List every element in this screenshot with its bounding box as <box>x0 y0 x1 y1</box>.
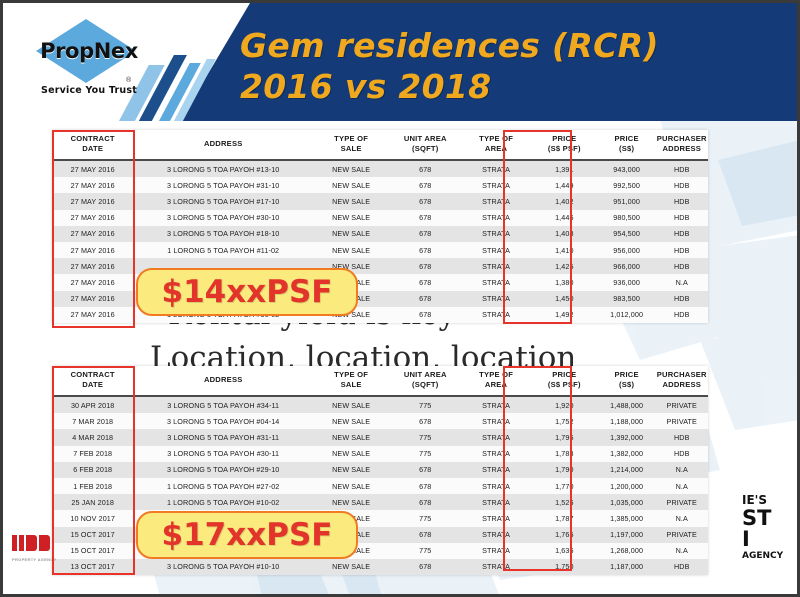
cell-7: HDB <box>655 193 708 209</box>
slide-canvas: Gem residences (RCR)2016 vs 2018 PropNex… <box>0 0 800 597</box>
cell-7: N.A <box>655 274 708 290</box>
cell-1: 3 LORONG 5 TOA PAYOH #04-14 <box>133 413 313 429</box>
cell-4: STRATA <box>461 429 531 445</box>
cell-2: NEW SALE <box>313 160 389 177</box>
cell-5: 1,783 <box>531 446 598 462</box>
cell-6: 1,200,000 <box>598 478 656 494</box>
cell-3: 678 <box>389 291 461 307</box>
cell-5: 1,449 <box>531 177 598 193</box>
table-header-row: CONTRACTDATEADDRESSTYPE OFSALEUNIT AREA(… <box>52 130 708 160</box>
cell-3: 678 <box>389 160 461 177</box>
cell-4: STRATA <box>461 274 531 290</box>
cell-0: 27 MAY 2016 <box>52 210 133 226</box>
column-header-1: ADDRESS <box>133 130 313 160</box>
cell-5: 1,770 <box>531 478 598 494</box>
cell-0: 15 OCT 2017 <box>52 527 133 543</box>
cell-0: 25 JAN 2018 <box>52 494 133 510</box>
cell-1: 3 LORONG 5 TOA PAYOH #34-11 <box>133 396 313 413</box>
cell-0: 10 NOV 2017 <box>52 510 133 526</box>
cell-3: 678 <box>389 193 461 209</box>
cell-4: STRATA <box>461 462 531 478</box>
cell-4: STRATA <box>461 226 531 242</box>
logo-tagline: Service You Trust <box>14 85 164 96</box>
cell-1: 3 LORONG 5 TOA PAYOH #17-10 <box>133 193 313 209</box>
page-title-line1: Gem residences (RCR) <box>240 26 659 65</box>
cell-0: 7 MAR 2018 <box>52 413 133 429</box>
cell-3: 678 <box>389 242 461 258</box>
cell-6: 954,500 <box>598 226 656 242</box>
cell-6: 1,187,000 <box>598 559 656 575</box>
cell-5: 1,750 <box>531 559 598 575</box>
cell-4: STRATA <box>461 510 531 526</box>
cell-0: 27 MAY 2016 <box>52 274 133 290</box>
cell-6: 936,000 <box>598 274 656 290</box>
cell-3: 678 <box>389 274 461 290</box>
cell-4: STRATA <box>461 210 531 226</box>
cell-2: NEW SALE <box>313 429 389 445</box>
cell-2: NEW SALE <box>313 494 389 510</box>
cell-6: 951,000 <box>598 193 656 209</box>
cell-7: HDB <box>655 429 708 445</box>
column-header-6: PRICE(S$) <box>598 366 656 396</box>
column-header-3: UNIT AREA(SQFT) <box>389 366 461 396</box>
cell-7: HDB <box>655 160 708 177</box>
cell-6: 992,500 <box>598 177 656 193</box>
cell-6: 1,197,000 <box>598 527 656 543</box>
cell-0: 27 MAY 2016 <box>52 307 133 323</box>
table-row: 27 MAY 20163 LORONG 5 TOA PAYOH #13-10NE… <box>52 160 708 177</box>
cell-3: 678 <box>389 226 461 242</box>
cell-6: 1,188,000 <box>598 413 656 429</box>
cell-7: PRIVATE <box>655 527 708 543</box>
cell-3: 678 <box>389 307 461 323</box>
column-header-2: TYPE OFSALE <box>313 366 389 396</box>
cell-4: STRATA <box>461 446 531 462</box>
column-header-2: TYPE OFSALE <box>313 130 389 160</box>
cell-1: 3 LORONG 5 TOA PAYOH #31-11 <box>133 429 313 445</box>
cell-3: 678 <box>389 527 461 543</box>
cell-5: 1,526 <box>531 494 598 510</box>
cell-5: 1,391 <box>531 160 598 177</box>
cell-4: STRATA <box>461 413 531 429</box>
callout-psf-2018: $17xxPSF <box>136 511 358 559</box>
column-header-4: TYPE OFAREA <box>461 366 531 396</box>
cell-1: 1 LORONG 5 TOA PAYOH #11-02 <box>133 242 313 258</box>
cell-2: NEW SALE <box>313 193 389 209</box>
cell-0: 6 FEB 2018 <box>52 462 133 478</box>
cell-6: 1,214,000 <box>598 462 656 478</box>
cell-7: HDB <box>655 258 708 274</box>
cell-6: 1,385,000 <box>598 510 656 526</box>
cell-6: 966,000 <box>598 258 656 274</box>
cell-0: 1 FEB 2018 <box>52 478 133 494</box>
cell-3: 775 <box>389 429 461 445</box>
cell-4: STRATA <box>461 291 531 307</box>
cell-0: 27 MAY 2016 <box>52 193 133 209</box>
cell-3: 678 <box>389 413 461 429</box>
cell-0: 13 OCT 2017 <box>52 559 133 575</box>
cell-1: 3 LORONG 5 TOA PAYOH #18-10 <box>133 226 313 242</box>
watermark-line-1: IE'S <box>742 493 767 507</box>
cell-7: N.A <box>655 478 708 494</box>
column-header-3: UNIT AREA(SQFT) <box>389 130 461 160</box>
cell-6: 1,268,000 <box>598 543 656 559</box>
cell-6: 1,382,000 <box>598 446 656 462</box>
column-header-0: CONTRACTDATE <box>52 366 133 396</box>
table-row: 13 OCT 20173 LORONG 5 TOA PAYOH #10-10NE… <box>52 559 708 575</box>
table-row: 27 MAY 20163 LORONG 5 TOA PAYOH #30-10NE… <box>52 210 708 226</box>
cell-3: 775 <box>389 510 461 526</box>
cell-5: 1,410 <box>531 242 598 258</box>
cell-3: 678 <box>389 559 461 575</box>
cell-0: 27 MAY 2016 <box>52 177 133 193</box>
cell-4: STRATA <box>461 527 531 543</box>
cell-7: HDB <box>655 291 708 307</box>
cell-7: HDB <box>655 307 708 323</box>
partner-logo-icon: PROPERTY AGENCY <box>12 535 57 562</box>
cell-0: 7 FEB 2018 <box>52 446 133 462</box>
cell-1: 3 LORONG 5 TOA PAYOH #13-10 <box>133 160 313 177</box>
cell-0: 27 MAY 2016 <box>52 226 133 242</box>
column-header-1: ADDRESS <box>133 366 313 396</box>
cell-2: NEW SALE <box>313 413 389 429</box>
cell-4: STRATA <box>461 160 531 177</box>
cell-0: 4 MAR 2018 <box>52 429 133 445</box>
cell-2: NEW SALE <box>313 177 389 193</box>
cell-1: 3 LORONG 5 TOA PAYOH #30-10 <box>133 210 313 226</box>
cell-5: 1,790 <box>531 462 598 478</box>
cell-5: 1,752 <box>531 413 598 429</box>
cell-0: 15 OCT 2017 <box>52 543 133 559</box>
cell-6: 943,000 <box>598 160 656 177</box>
cell-4: STRATA <box>461 478 531 494</box>
cell-2: NEW SALE <box>313 559 389 575</box>
cell-4: STRATA <box>461 494 531 510</box>
page-title: Gem residences (RCR)2016 vs 2018 <box>240 25 659 107</box>
cell-5: 1,492 <box>531 307 598 323</box>
cell-3: 678 <box>389 177 461 193</box>
callout-psf-2016: $14xxPSF <box>136 268 358 316</box>
cell-3: 678 <box>389 478 461 494</box>
column-header-5: PRICE(S$ PSF) <box>531 366 598 396</box>
cell-4: STRATA <box>461 559 531 575</box>
cell-6: 956,000 <box>598 242 656 258</box>
table-row: 4 MAR 20183 LORONG 5 TOA PAYOH #31-11NEW… <box>52 429 708 445</box>
cell-4: STRATA <box>461 177 531 193</box>
table-row: 7 FEB 20183 LORONG 5 TOA PAYOH #30-11NEW… <box>52 446 708 462</box>
cell-2: NEW SALE <box>313 478 389 494</box>
cell-7: N.A <box>655 543 708 559</box>
cell-2: NEW SALE <box>313 462 389 478</box>
cell-0: 30 APR 2018 <box>52 396 133 413</box>
cell-5: 1,408 <box>531 226 598 242</box>
cell-1: 3 LORONG 5 TOA PAYOH #31-10 <box>133 177 313 193</box>
cell-4: STRATA <box>461 193 531 209</box>
cell-6: 1,035,000 <box>598 494 656 510</box>
cell-0: 27 MAY 2016 <box>52 160 133 177</box>
cell-5: 1,765 <box>531 527 598 543</box>
cell-4: STRATA <box>461 396 531 413</box>
cell-1: 1 LORONG 5 TOA PAYOH #10-02 <box>133 494 313 510</box>
cell-5: 1,796 <box>531 429 598 445</box>
cell-5: 1,787 <box>531 510 598 526</box>
cell-4: STRATA <box>461 543 531 559</box>
column-header-7: PURCHASERADDRESS <box>655 130 708 160</box>
cell-2: NEW SALE <box>313 242 389 258</box>
cell-5: 1,380 <box>531 274 598 290</box>
table-row: 25 JAN 20181 LORONG 5 TOA PAYOH #10-02NE… <box>52 494 708 510</box>
cell-3: 775 <box>389 543 461 559</box>
cell-1: 3 LORONG 5 TOA PAYOH #29-10 <box>133 462 313 478</box>
cell-0: 27 MAY 2016 <box>52 258 133 274</box>
cell-6: 1,488,000 <box>598 396 656 413</box>
cell-5: 1,920 <box>531 396 598 413</box>
cell-7: HDB <box>655 446 708 462</box>
cell-4: STRATA <box>461 307 531 323</box>
column-header-5: PRICE(S$ PSF) <box>531 130 598 160</box>
watermark-line-4: AGENCY <box>742 551 783 561</box>
cell-7: HDB <box>655 242 708 258</box>
cell-2: NEW SALE <box>313 226 389 242</box>
cell-1: 3 LORONG 5 TOA PAYOH #10-10 <box>133 559 313 575</box>
column-header-7: PURCHASERADDRESS <box>655 366 708 396</box>
cell-7: PRIVATE <box>655 494 708 510</box>
table-row: 27 MAY 20163 LORONG 5 TOA PAYOH #17-10NE… <box>52 193 708 209</box>
cell-2: NEW SALE <box>313 210 389 226</box>
propnex-logo: PropNex ® Service You Trust <box>14 17 164 109</box>
table-row: 27 MAY 20163 LORONG 5 TOA PAYOH #18-10NE… <box>52 226 708 242</box>
cell-5: 1,402 <box>531 193 598 209</box>
cell-7: N.A <box>655 510 708 526</box>
cell-4: STRATA <box>461 258 531 274</box>
logo-wordmark: PropNex <box>14 39 164 63</box>
cell-7: HDB <box>655 177 708 193</box>
table-row: 27 MAY 20161 LORONG 5 TOA PAYOH #11-02NE… <box>52 242 708 258</box>
cell-3: 678 <box>389 210 461 226</box>
cell-1: 3 LORONG 5 TOA PAYOH #30-11 <box>133 446 313 462</box>
table-row: 7 MAR 20183 LORONG 5 TOA PAYOH #04-14NEW… <box>52 413 708 429</box>
cell-2: NEW SALE <box>313 446 389 462</box>
registered-mark-icon: ® <box>126 77 131 84</box>
slide-header: Gem residences (RCR)2016 vs 2018 PropNex… <box>0 3 800 121</box>
cell-3: 775 <box>389 396 461 413</box>
cell-0: 27 MAY 2016 <box>52 242 133 258</box>
page-title-line2: 2016 vs 2018 <box>240 67 491 106</box>
cell-3: 775 <box>389 446 461 462</box>
table-row: 30 APR 20183 LORONG 5 TOA PAYOH #34-11NE… <box>52 396 708 413</box>
watermark-line-3: I <box>742 527 750 551</box>
cell-7: PRIVATE <box>655 413 708 429</box>
cell-6: 1,392,000 <box>598 429 656 445</box>
cell-7: N.A <box>655 462 708 478</box>
cell-3: 678 <box>389 258 461 274</box>
cell-7: HDB <box>655 226 708 242</box>
cell-7: PRIVATE <box>655 396 708 413</box>
table-header-row: CONTRACTDATEADDRESSTYPE OFSALEUNIT AREA(… <box>52 366 708 396</box>
cell-3: 678 <box>389 494 461 510</box>
table-row: 1 FEB 20181 LORONG 5 TOA PAYOH #27-02NEW… <box>52 478 708 494</box>
cell-1: 1 LORONG 5 TOA PAYOH #27-02 <box>133 478 313 494</box>
cell-6: 983,500 <box>598 291 656 307</box>
cell-7: HDB <box>655 210 708 226</box>
cell-5: 1,450 <box>531 291 598 307</box>
cell-5: 1,636 <box>531 543 598 559</box>
cell-2: NEW SALE <box>313 396 389 413</box>
column-header-0: CONTRACTDATE <box>52 130 133 160</box>
cell-5: 1,425 <box>531 258 598 274</box>
table-row: 6 FEB 20183 LORONG 5 TOA PAYOH #29-10NEW… <box>52 462 708 478</box>
cell-0: 27 MAY 2016 <box>52 291 133 307</box>
cell-7: HDB <box>655 559 708 575</box>
cell-5: 1,446 <box>531 210 598 226</box>
cell-4: STRATA <box>461 242 531 258</box>
column-header-6: PRICE(S$) <box>598 130 656 160</box>
cell-3: 678 <box>389 462 461 478</box>
table-row: 27 MAY 20163 LORONG 5 TOA PAYOH #31-10NE… <box>52 177 708 193</box>
cell-6: 1,012,000 <box>598 307 656 323</box>
cell-6: 980,500 <box>598 210 656 226</box>
column-header-4: TYPE OFAREA <box>461 130 531 160</box>
